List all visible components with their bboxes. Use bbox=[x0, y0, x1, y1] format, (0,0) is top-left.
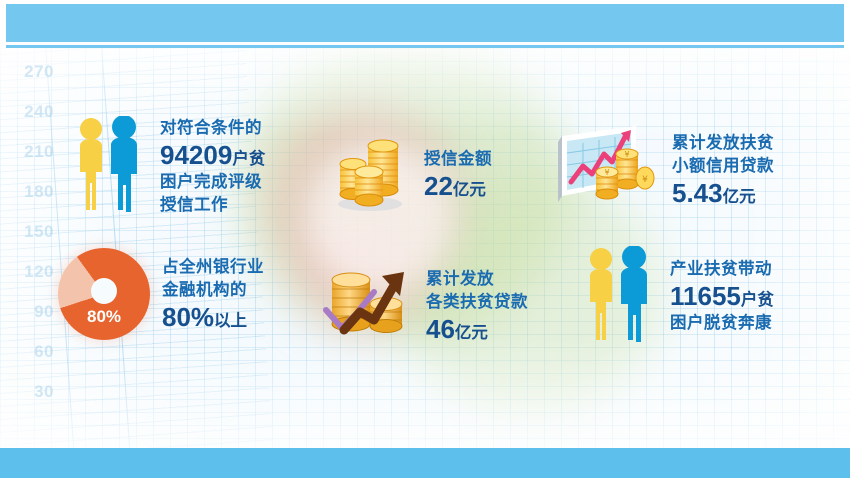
stat-number-suffix: 亿元 bbox=[723, 188, 756, 206]
stat-micro-credit-loans: ¥ ¥ ¥ bbox=[552, 120, 774, 221]
stat-number-line: 46亿元 bbox=[426, 314, 528, 345]
stat-copy: 对符合条件的 94209户贫 困户完成评级 授信工作 bbox=[160, 117, 265, 217]
stat-number: 80% bbox=[162, 302, 214, 332]
stat-line: 对符合条件的 bbox=[160, 117, 265, 140]
stat-number-suffix: 户贫 bbox=[741, 291, 774, 309]
two-people-icon bbox=[582, 246, 658, 347]
stat-number-line: 11655户贫 bbox=[670, 281, 774, 312]
stat-credit-rating-households: 对符合条件的 94209户贫 困户完成评级 授信工作 bbox=[72, 116, 265, 217]
stat-number-line: 22亿元 bbox=[424, 171, 492, 202]
stat-number: 22 bbox=[424, 171, 453, 201]
stat-number: 46 bbox=[426, 314, 455, 344]
stat-number-suffix: 亿元 bbox=[453, 181, 486, 199]
donut-value-label: 80% bbox=[58, 307, 150, 327]
stat-line: 小额信用贷款 bbox=[672, 155, 774, 178]
stat-copy: 累计发放扶贫 小额信用贷款 5.43亿元 bbox=[672, 132, 774, 209]
stat-line: 产业扶贫带动 bbox=[670, 258, 774, 281]
stat-line: 各类扶贫贷款 bbox=[426, 291, 528, 314]
two-people-icon bbox=[72, 116, 148, 217]
stat-number-line: 5.43亿元 bbox=[672, 178, 774, 209]
svg-text:¥: ¥ bbox=[642, 175, 648, 185]
stat-poverty-alleviation-loans: 累计发放 各类扶贫贷款 46亿元 bbox=[322, 262, 528, 351]
chart-board-coins-icon: ¥ ¥ ¥ bbox=[552, 120, 660, 221]
svg-text:¥: ¥ bbox=[604, 168, 609, 177]
stat-share-of-banking-institutions: 80% 占全州银行业 金融机构的 80%以上 bbox=[58, 248, 264, 340]
stat-copy: 授信金额 22亿元 bbox=[424, 148, 492, 202]
stat-line: 授信工作 bbox=[160, 194, 265, 217]
coins-arrow-icon bbox=[322, 262, 414, 351]
stat-industry-poverty-relief: 产业扶贫带动 11655户贫 困户脱贫奔康 bbox=[582, 246, 774, 347]
stat-number-suffix: 以上 bbox=[214, 312, 247, 330]
stat-line: 占全州银行业 bbox=[162, 256, 264, 279]
top-banner-band bbox=[6, 4, 844, 42]
stat-number-suffix: 户贫 bbox=[232, 150, 265, 168]
stat-line: 困户脱贫奔康 bbox=[670, 312, 774, 335]
stat-line: 困户完成评级 bbox=[160, 171, 265, 194]
stat-number: 5.43 bbox=[672, 178, 723, 208]
stat-line: 金融机构的 bbox=[162, 279, 264, 302]
bottom-banner-band bbox=[0, 448, 850, 478]
stat-grid: 对符合条件的 94209户贫 困户完成评级 授信工作 bbox=[0, 48, 850, 448]
stat-copy: 占全州银行业 金融机构的 80%以上 bbox=[162, 256, 264, 333]
stat-number: 94209 bbox=[160, 140, 232, 170]
infographic-poster: 270240210180150120906030 对符合条件的 94209户贫 … bbox=[0, 0, 850, 478]
donut-chart-icon: 80% bbox=[58, 248, 150, 340]
stat-credit-amount: 授信金额 22亿元 bbox=[328, 130, 492, 219]
stat-line: 授信金额 bbox=[424, 148, 492, 171]
svg-text:¥: ¥ bbox=[624, 150, 629, 159]
stat-line: 累计发放扶贫 bbox=[672, 132, 774, 155]
stat-number: 11655 bbox=[670, 281, 741, 311]
stat-copy: 产业扶贫带动 11655户贫 困户脱贫奔康 bbox=[670, 258, 774, 335]
donut-hole bbox=[91, 278, 117, 304]
stat-number-suffix: 亿元 bbox=[455, 324, 488, 342]
stat-copy: 累计发放 各类扶贫贷款 46亿元 bbox=[426, 268, 528, 345]
stat-number-line: 80%以上 bbox=[162, 302, 264, 333]
stat-line: 累计发放 bbox=[426, 268, 528, 291]
stat-number-line: 94209户贫 bbox=[160, 140, 265, 171]
coin-stacks-icon bbox=[328, 130, 412, 219]
